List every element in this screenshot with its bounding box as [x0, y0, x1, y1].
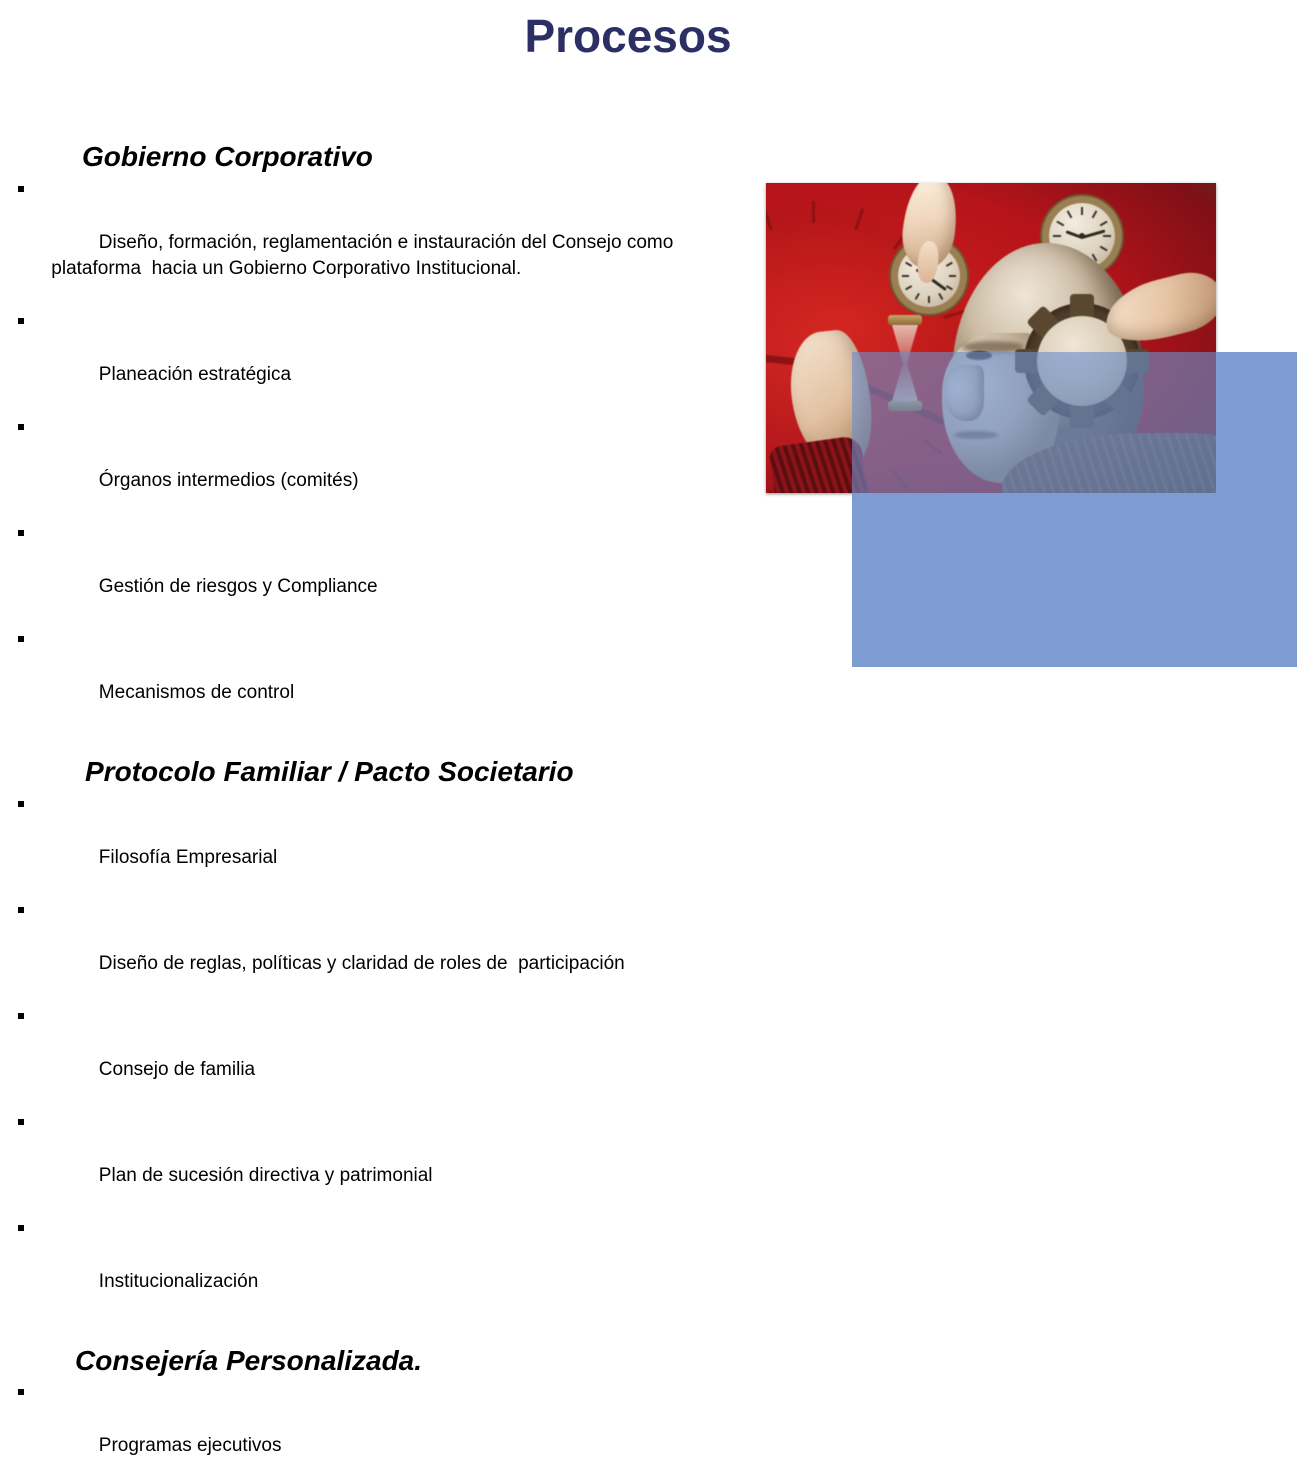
content-column: Gobierno Corporativo Diseño, formación, … — [0, 140, 740, 1470]
list-item-label: Gestión de riesgos y Compliance — [99, 576, 378, 597]
list-item: Programas ejecutivos — [0, 1380, 740, 1470]
bullet-square-icon — [18, 318, 24, 324]
list-item-label: Programas ejecutivos — [99, 1435, 282, 1456]
section-heading-protocolo-familiar: Protocolo Familiar / Pacto Societario — [0, 755, 740, 790]
section-heading-gobierno-corporativo: Gobierno Corporativo — [0, 140, 740, 175]
section-gobierno-corporativo: Gobierno Corporativo Diseño, formación, … — [0, 140, 740, 733]
bullet-list-consejeria-personalizada: Programas ejecutivos — [0, 1380, 740, 1470]
bullet-square-icon — [18, 424, 24, 430]
slide-canvas: Procesos Gobierno Corporativo Diseño, fo… — [0, 0, 1316, 735]
bullet-square-icon — [18, 801, 24, 807]
list-item-label: Diseño de reglas, políticas y claridad d… — [99, 953, 625, 974]
list-item: Plan de sucesión directiva y patrimonial — [0, 1110, 740, 1216]
bullet-square-icon — [18, 530, 24, 536]
list-item-label: Consejo de familia — [99, 1059, 255, 1080]
bullet-list-gobierno-corporativo: Diseño, formación, reglamentación e inst… — [0, 177, 740, 734]
list-item: Órganos intermedios (comités) — [0, 415, 740, 521]
bullet-square-icon — [18, 636, 24, 642]
list-item-label: Plan de sucesión directiva y patrimonial — [99, 1165, 433, 1186]
blue-translucent-rectangle — [852, 352, 1297, 667]
list-item-label: Diseño, formación, reglamentación e inst… — [46, 232, 673, 280]
list-item: Planeación estratégica — [0, 309, 740, 415]
list-item: Diseño, formación, reglamentación e inst… — [0, 177, 740, 310]
list-item-label: Institucionalización — [99, 1271, 258, 1292]
list-item: Filosofía Empresarial — [0, 792, 740, 898]
list-item-label: Mecanismos de control — [99, 682, 294, 703]
list-item: Gestión de riesgos y Compliance — [0, 521, 740, 627]
list-item: Consejo de familia — [0, 1004, 740, 1110]
bullet-square-icon — [18, 1389, 24, 1395]
list-item: Diseño de reglas, políticas y claridad d… — [0, 898, 740, 1004]
bullet-square-icon — [18, 907, 24, 913]
list-item-label: Planeación estratégica — [99, 364, 291, 385]
page-title: Procesos — [0, 11, 1256, 63]
bullet-list-protocolo-familiar: Filosofía Empresarial Diseño de reglas, … — [0, 792, 740, 1322]
bullet-square-icon — [18, 1119, 24, 1125]
bullet-square-icon — [18, 186, 24, 192]
list-item-label: Filosofía Empresarial — [99, 847, 277, 868]
bullet-square-icon — [18, 1225, 24, 1231]
section-consejeria-personalizada: Consejería Personalizada. Programas ejec… — [0, 1344, 740, 1470]
section-heading-consejeria-personalizada: Consejería Personalizada. — [0, 1344, 740, 1379]
section-protocolo-familiar: Protocolo Familiar / Pacto Societario Fi… — [0, 755, 740, 1322]
graphic-group — [766, 183, 1300, 669]
bullet-square-icon — [18, 1013, 24, 1019]
list-item: Mecanismos de control — [0, 627, 740, 733]
list-item: Institucionalización — [0, 1216, 740, 1322]
list-item-label: Órganos intermedios (comités) — [99, 470, 359, 491]
